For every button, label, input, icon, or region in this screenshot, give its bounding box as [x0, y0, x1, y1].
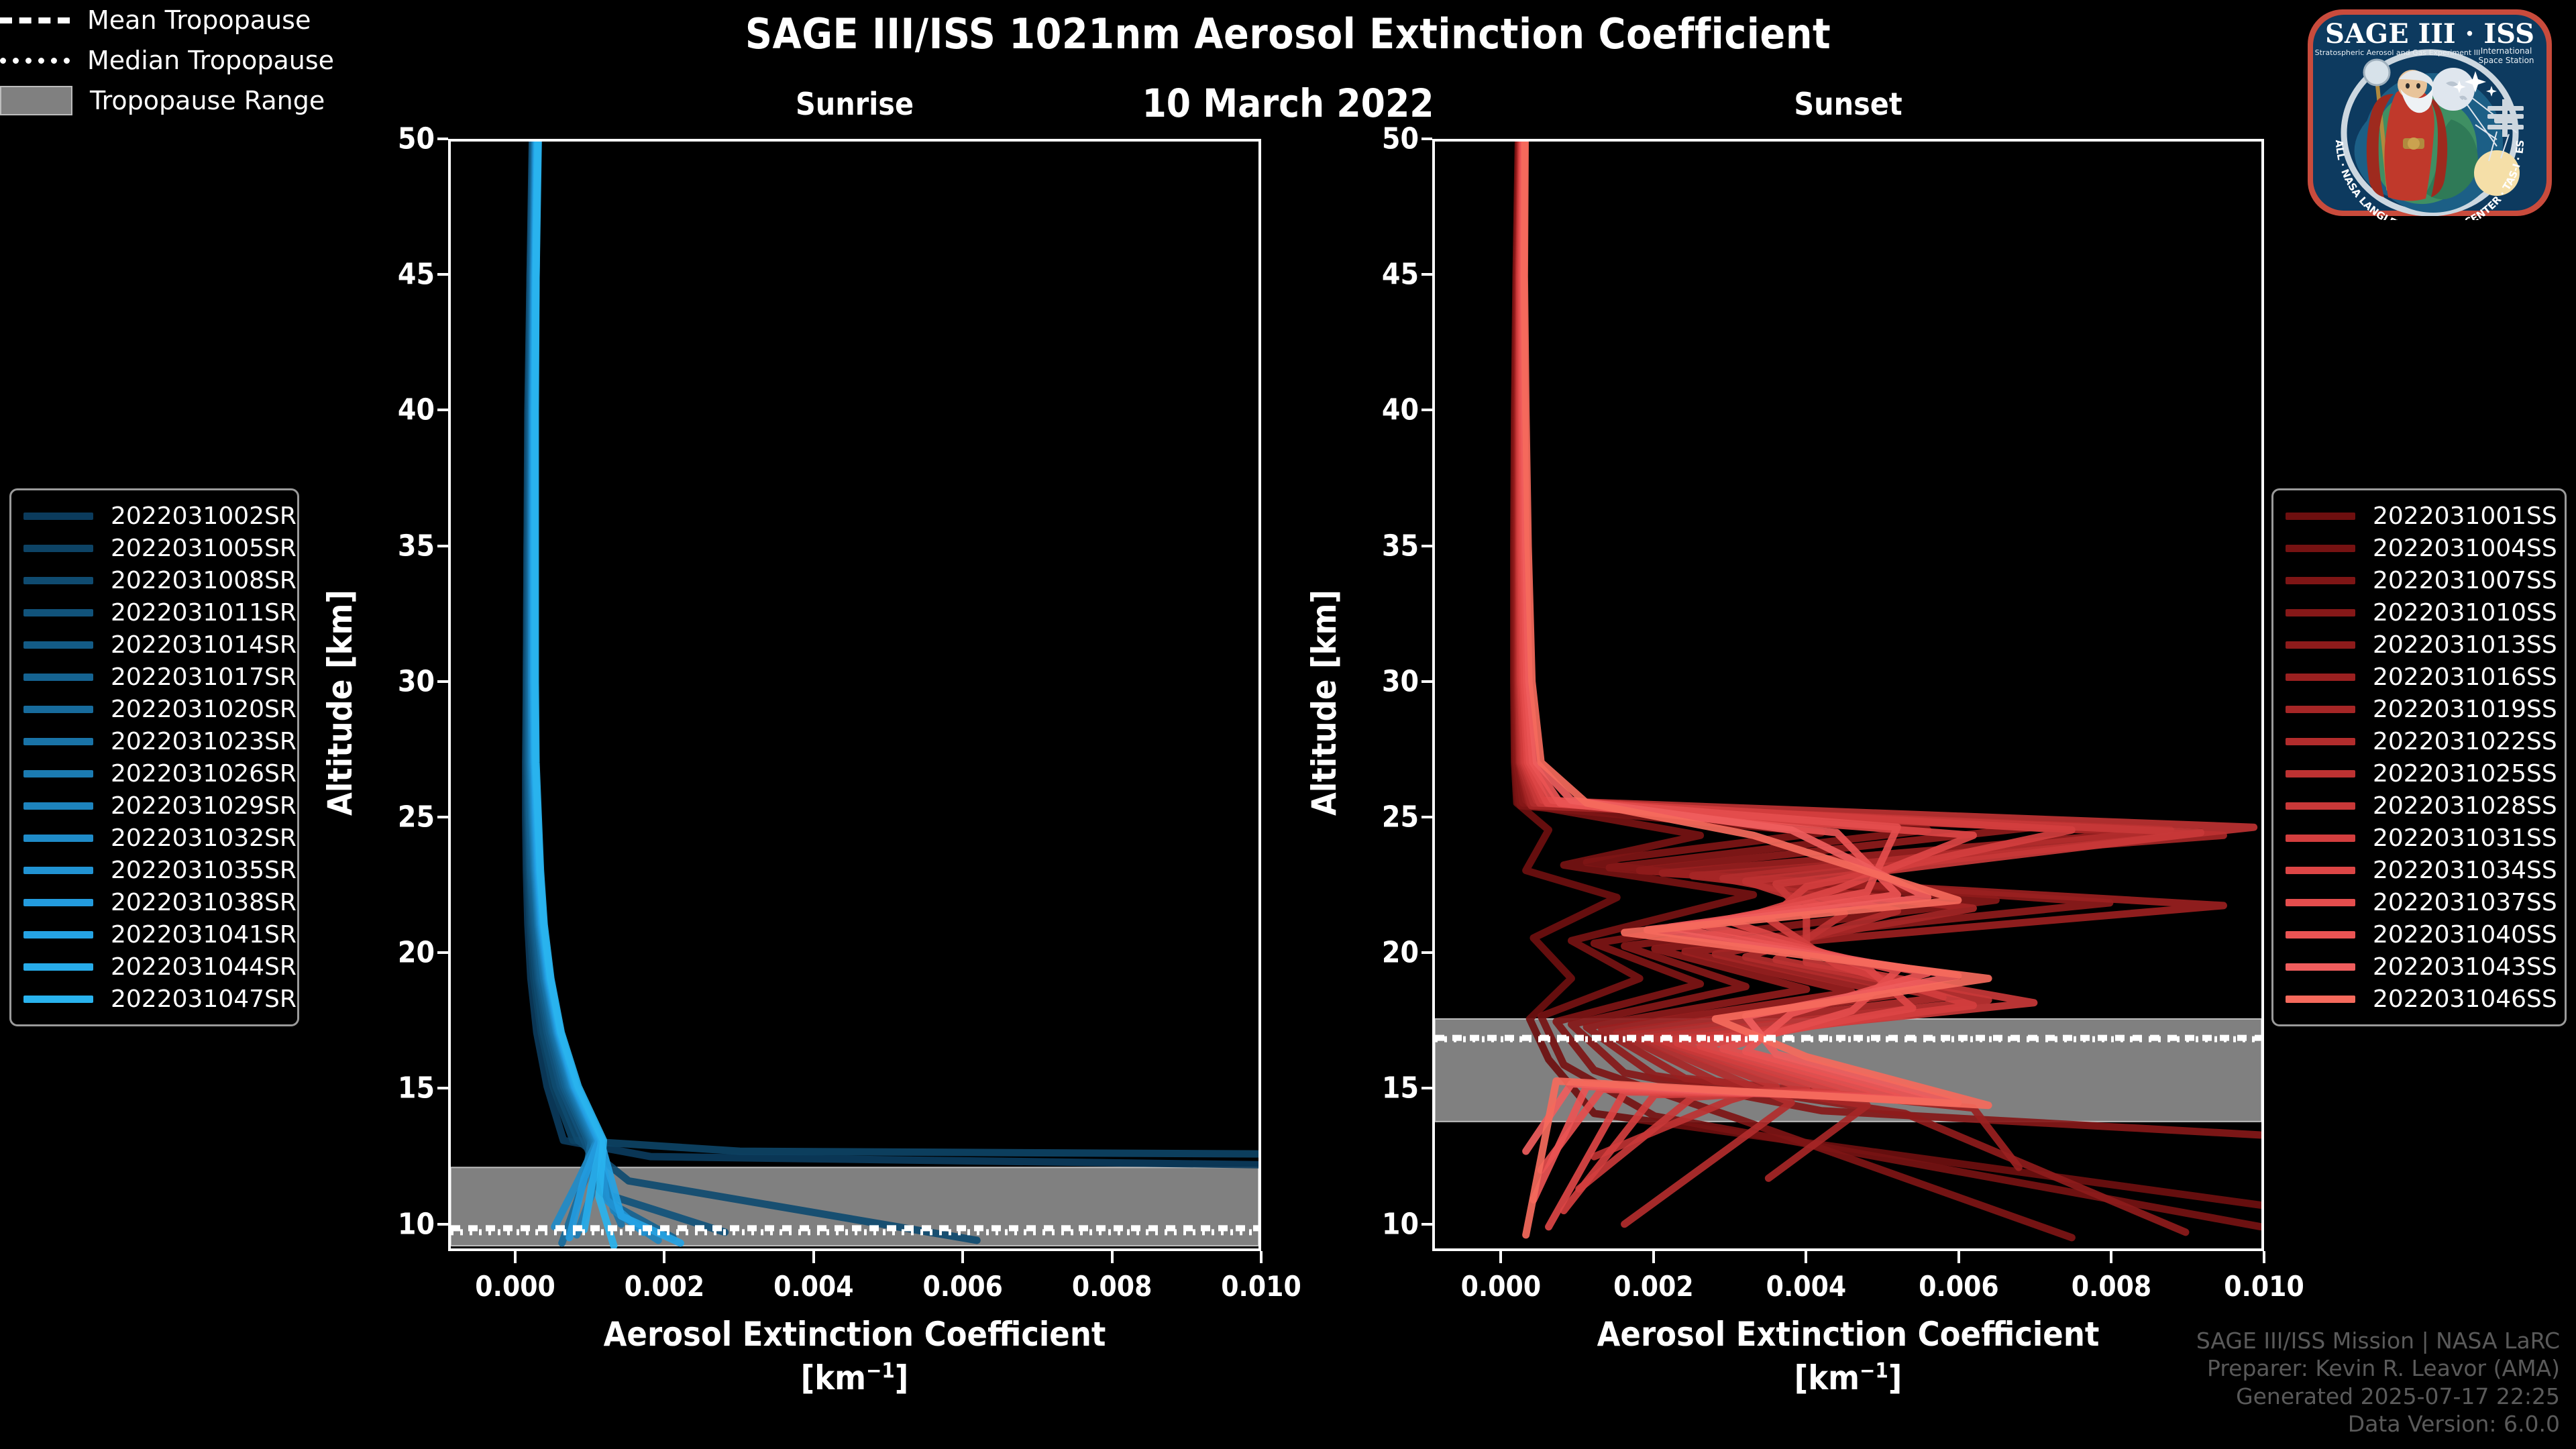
legend-item[interactable]: 2022031037SS	[2286, 886, 2553, 918]
legend-item[interactable]: 2022031031SS	[2286, 822, 2553, 854]
legend-color-swatch	[23, 899, 93, 906]
sunset-profile-chart	[1435, 142, 2261, 1248]
legend-item[interactable]: 2022031013SS	[2286, 629, 2553, 661]
legend-item[interactable]: 2022031035SR	[23, 854, 285, 886]
y-axis-tick-mark	[1421, 951, 1432, 954]
legend-color-swatch	[2286, 738, 2355, 745]
legend-item[interactable]: 2022031010SS	[2286, 596, 2553, 629]
sunset-plot-clip	[1435, 142, 2261, 1248]
legend-item-label: 2022031038SR	[111, 889, 297, 916]
legend-item-label: 2022031026SR	[111, 760, 297, 788]
legend-color-swatch	[2286, 835, 2355, 842]
legend-item-label: 2022031031SS	[2373, 824, 2557, 852]
sunrise-plot-clip	[451, 142, 1258, 1248]
x-axis-tick-mark	[2110, 1251, 2112, 1263]
x-axis-tick-mark	[1957, 1251, 1960, 1263]
legend-item-label: 2022031017SR	[111, 663, 297, 691]
y-axis-tick-mark	[437, 1223, 448, 1226]
legend-color-swatch	[2286, 931, 2355, 938]
y-axis-tick-mark	[437, 951, 448, 954]
y-axis-tick-mark	[1421, 1087, 1432, 1089]
x-axis-tick-mark	[514, 1251, 517, 1263]
x-axis-tick-mark	[1805, 1251, 1807, 1263]
legend-color-swatch	[2286, 641, 2355, 649]
legend-color-swatch	[2286, 674, 2355, 681]
legend-item-label: 2022031041SR	[111, 921, 297, 949]
y-axis-tick-mark	[437, 138, 448, 140]
legend-color-swatch	[2286, 899, 2355, 906]
legend-item-label: 2022031023SR	[111, 728, 297, 755]
legend-item-label: 2022031046SS	[2373, 985, 2557, 1013]
legend-color-swatch	[23, 545, 93, 552]
legend-item[interactable]: 2022031032SR	[23, 822, 285, 854]
legend-item-label: 2022031022SS	[2373, 728, 2557, 755]
y-axis-tick-label: 30	[1352, 664, 1419, 698]
legend-item[interactable]: 2022031023SR	[23, 725, 285, 757]
legend-item-label: 2022031013SS	[2373, 631, 2557, 659]
y-axis-tick-label: 35	[1352, 529, 1419, 563]
sunrise-plot-panel	[448, 139, 1261, 1251]
x-axis-tick-label: 0.004	[1766, 1270, 1847, 1303]
legend-color-swatch	[23, 609, 93, 616]
legend-color-swatch	[2286, 577, 2355, 584]
legend-item[interactable]: 2022031043SS	[2286, 951, 2553, 983]
legend-color-swatch	[2286, 802, 2355, 810]
legend-color-swatch	[23, 835, 93, 842]
legend-item-label: 2022031028SS	[2373, 792, 2557, 820]
y-axis-tick-mark	[1421, 273, 1432, 276]
y-axis-tick-label: 20	[368, 936, 435, 970]
legend-item[interactable]: 2022031004SS	[2286, 532, 2553, 564]
legend-item-label: 2022031001SS	[2373, 502, 2557, 530]
y-axis-tick-label: 40	[1352, 393, 1419, 427]
x-axis-label: Aerosol Extinction Coefficient	[448, 1315, 1261, 1354]
y-axis-tick-mark	[437, 273, 448, 276]
legend-item-label: 2022031014SR	[111, 631, 297, 659]
x-axis-tick-label: 0.004	[773, 1270, 854, 1303]
y-axis-tick-mark	[437, 545, 448, 547]
legend-item[interactable]: 2022031029SR	[23, 790, 285, 822]
sunrise-profile-chart	[451, 142, 1258, 1248]
x-axis-tick-mark	[2263, 1251, 2265, 1263]
legend-item[interactable]: 2022031014SR	[23, 629, 285, 661]
sunrise-panel-title: Sunrise	[448, 86, 1261, 122]
x-axis-tick-label: 0.002	[1613, 1270, 1694, 1303]
legend-item[interactable]: 2022031019SS	[2286, 693, 2553, 725]
legend-item[interactable]: 2022031047SR	[23, 983, 285, 1015]
legend-item-label: 2022031010SS	[2373, 599, 2557, 627]
y-axis-tick-mark	[1421, 545, 1432, 547]
legend-color-swatch	[23, 996, 93, 1003]
legend-item[interactable]: 2022031016SS	[2286, 661, 2553, 693]
legend-item-label: 2022031020SR	[111, 696, 297, 723]
legend-color-swatch	[23, 802, 93, 810]
legend-item[interactable]: 2022031046SS	[2286, 983, 2553, 1015]
legend-item[interactable]: 2022031005SR	[23, 532, 285, 564]
y-axis-tick-label: 50	[1352, 122, 1419, 156]
legend-item-label: 2022031002SR	[111, 502, 297, 530]
y-axis-tick-label: 35	[368, 529, 435, 563]
profile-line	[527, 142, 1258, 1154]
y-axis-label: Altitude [km]	[321, 590, 360, 816]
legend-color-swatch	[23, 674, 93, 681]
credits-line-4: Data Version: 6.0.0	[2196, 1410, 2560, 1438]
x-axis-label: Aerosol Extinction Coefficient	[1432, 1315, 2264, 1354]
legend-item-label: 2022031004SS	[2373, 535, 2557, 562]
x-axis-units: [km−1]	[1432, 1358, 2264, 1397]
legend-item-label: 2022031019SS	[2373, 696, 2557, 723]
legend-color-swatch	[23, 770, 93, 777]
legend-item[interactable]: 2022031008SR	[23, 564, 285, 596]
legend-color-swatch	[23, 706, 93, 713]
x-axis-tick-mark	[1652, 1251, 1655, 1263]
legend-color-swatch	[23, 641, 93, 649]
legend-color-swatch	[2286, 867, 2355, 874]
legend-item-label: 2022031047SR	[111, 985, 297, 1013]
legend-color-swatch	[23, 738, 93, 745]
y-axis-tick-mark	[437, 409, 448, 411]
legend-color-swatch	[2286, 706, 2355, 713]
x-axis-tick-label: 0.000	[1461, 1270, 1542, 1303]
legend-item[interactable]: 2022031020SR	[23, 693, 285, 725]
legend-color-swatch	[23, 963, 93, 971]
x-axis-tick-mark	[1499, 1251, 1502, 1263]
mission-patch-svg: SAGE III · ISS Stratospheric Aerosol and…	[2296, 5, 2564, 220]
credits-block: SAGE III/ISS Mission | NASA LaRC Prepare…	[2196, 1327, 2560, 1438]
legend-item[interactable]: 2022031025SS	[2286, 757, 2553, 790]
y-axis-tick-mark	[1421, 138, 1432, 140]
x-axis-tick-label: 0.010	[2224, 1270, 2304, 1303]
x-axis-tick-label: 0.008	[1072, 1270, 1152, 1303]
legend-item-label: 2022031025SS	[2373, 760, 2557, 788]
legend-item-label: 2022031008SR	[111, 567, 297, 594]
y-axis-tick-label: 45	[368, 258, 435, 292]
y-axis-label: Altitude [km]	[1305, 590, 1344, 816]
y-axis-tick-label: 25	[368, 800, 435, 834]
legend-item-label: 2022031032SR	[111, 824, 297, 852]
logo-line3: Space Station	[2478, 56, 2534, 65]
legend-color-swatch	[2286, 996, 2355, 1003]
legend-item-label: 2022031016SS	[2373, 663, 2557, 691]
legend-color-swatch	[2286, 545, 2355, 552]
legend-color-swatch	[23, 931, 93, 938]
y-axis-tick-label: 10	[1352, 1207, 1419, 1241]
legend-item[interactable]: 2022031011SR	[23, 596, 285, 629]
y-axis-tick-label: 40	[368, 393, 435, 427]
y-axis-tick-mark	[437, 816, 448, 818]
y-axis-tick-label: 30	[368, 664, 435, 698]
logo-line1: Stratospheric Aerosol and Gas Experiment…	[2315, 48, 2481, 57]
page-title: SAGE III/ISS 1021nm Aerosol Extinction C…	[0, 9, 2576, 58]
sunset-legend[interactable]: 2022031001SS2022031004SS2022031007SS2022…	[2271, 488, 2567, 1026]
legend-color-swatch	[23, 577, 93, 584]
credits-line-1: SAGE III/ISS Mission | NASA LaRC	[2196, 1327, 2560, 1355]
x-axis-tick-label: 0.008	[2072, 1270, 2152, 1303]
legend-item[interactable]: 2022031038SR	[23, 886, 285, 918]
credits-line-3: Generated 2025-07-17 22:25	[2196, 1383, 2560, 1411]
legend-item-label: 2022031007SS	[2373, 567, 2557, 594]
legend-item-label: 2022031029SR	[111, 792, 297, 820]
y-axis-tick-label: 15	[1352, 1071, 1419, 1106]
y-axis-tick-label: 25	[1352, 800, 1419, 834]
sunset-plot-panel	[1432, 139, 2264, 1251]
y-axis-tick-mark	[1421, 1223, 1432, 1226]
legend-color-swatch	[2286, 963, 2355, 971]
legend-item-label: 2022031005SR	[111, 535, 297, 562]
legend-item-label: 2022031034SS	[2373, 857, 2557, 884]
legend-item[interactable]: 2022031028SS	[2286, 790, 2553, 822]
sunrise-legend[interactable]: 2022031002SR2022031005SR2022031008SR2022…	[9, 488, 299, 1026]
y-axis-tick-label: 50	[368, 122, 435, 156]
sage-iii-iss-mission-patch-logo: SAGE III · ISS Stratospheric Aerosol and…	[2296, 5, 2564, 220]
x-axis-tick-label: 0.006	[1919, 1270, 1999, 1303]
y-axis-tick-label: 45	[1352, 258, 1419, 292]
x-axis-tick-mark	[1111, 1251, 1114, 1263]
legend-color-swatch	[2286, 770, 2355, 777]
profile-line	[527, 142, 977, 1240]
sunset-panel-title: Sunset	[1432, 86, 2264, 122]
logo-line2: International	[2481, 46, 2532, 56]
y-axis-tick-mark	[1421, 680, 1432, 683]
legend-item-label: 2022031043SS	[2373, 953, 2557, 981]
x-axis-tick-mark	[1260, 1251, 1263, 1263]
legend-item[interactable]: 2022031017SR	[23, 661, 285, 693]
legend-color-swatch	[23, 513, 93, 520]
x-axis-units: [km−1]	[448, 1358, 1261, 1397]
legend-item-label: 2022031011SR	[111, 599, 297, 627]
legend-color-swatch	[23, 867, 93, 874]
legend-item-label: 2022031037SS	[2373, 889, 2557, 916]
x-axis-tick-label: 0.006	[922, 1270, 1003, 1303]
legend-item[interactable]: 2022031001SS	[2286, 500, 2553, 532]
y-axis-tick-mark	[437, 680, 448, 683]
legend-item-label: 2022031035SR	[111, 857, 297, 884]
legend-item[interactable]: 2022031002SR	[23, 500, 285, 532]
legend-item[interactable]: 2022031026SR	[23, 757, 285, 790]
legend-item[interactable]: 2022031022SS	[2286, 725, 2553, 757]
legend-color-swatch	[2286, 609, 2355, 616]
legend-color-swatch	[2286, 513, 2355, 520]
legend-item[interactable]: 2022031007SS	[2286, 564, 2553, 596]
legend-item[interactable]: 2022031040SS	[2286, 918, 2553, 951]
x-axis-tick-mark	[812, 1251, 815, 1263]
logo-title: SAGE III · ISS	[2325, 18, 2534, 50]
x-axis-tick-mark	[663, 1251, 665, 1263]
y-axis-tick-mark	[1421, 409, 1432, 411]
x-axis-tick-label: 0.002	[625, 1270, 705, 1303]
x-axis-tick-label: 0.000	[475, 1270, 555, 1303]
legend-item-label: 2022031040SS	[2373, 921, 2557, 949]
profile-line	[526, 142, 1258, 1165]
y-axis-tick-label: 20	[1352, 936, 1419, 970]
x-axis-tick-label: 0.010	[1221, 1270, 1301, 1303]
legend-item[interactable]: 2022031044SR	[23, 951, 285, 983]
x-axis-tick-mark	[961, 1251, 964, 1263]
y-axis-tick-mark	[437, 1087, 448, 1089]
y-axis-tick-mark	[1421, 816, 1432, 818]
credits-line-2: Preparer: Kevin R. Leavor (AMA)	[2196, 1354, 2560, 1383]
legend-item[interactable]: 2022031034SS	[2286, 854, 2553, 886]
legend-item[interactable]: 2022031041SR	[23, 918, 285, 951]
legend-item-label: 2022031044SR	[111, 953, 297, 981]
y-axis-tick-label: 10	[368, 1207, 435, 1241]
y-axis-tick-label: 15	[368, 1071, 435, 1106]
